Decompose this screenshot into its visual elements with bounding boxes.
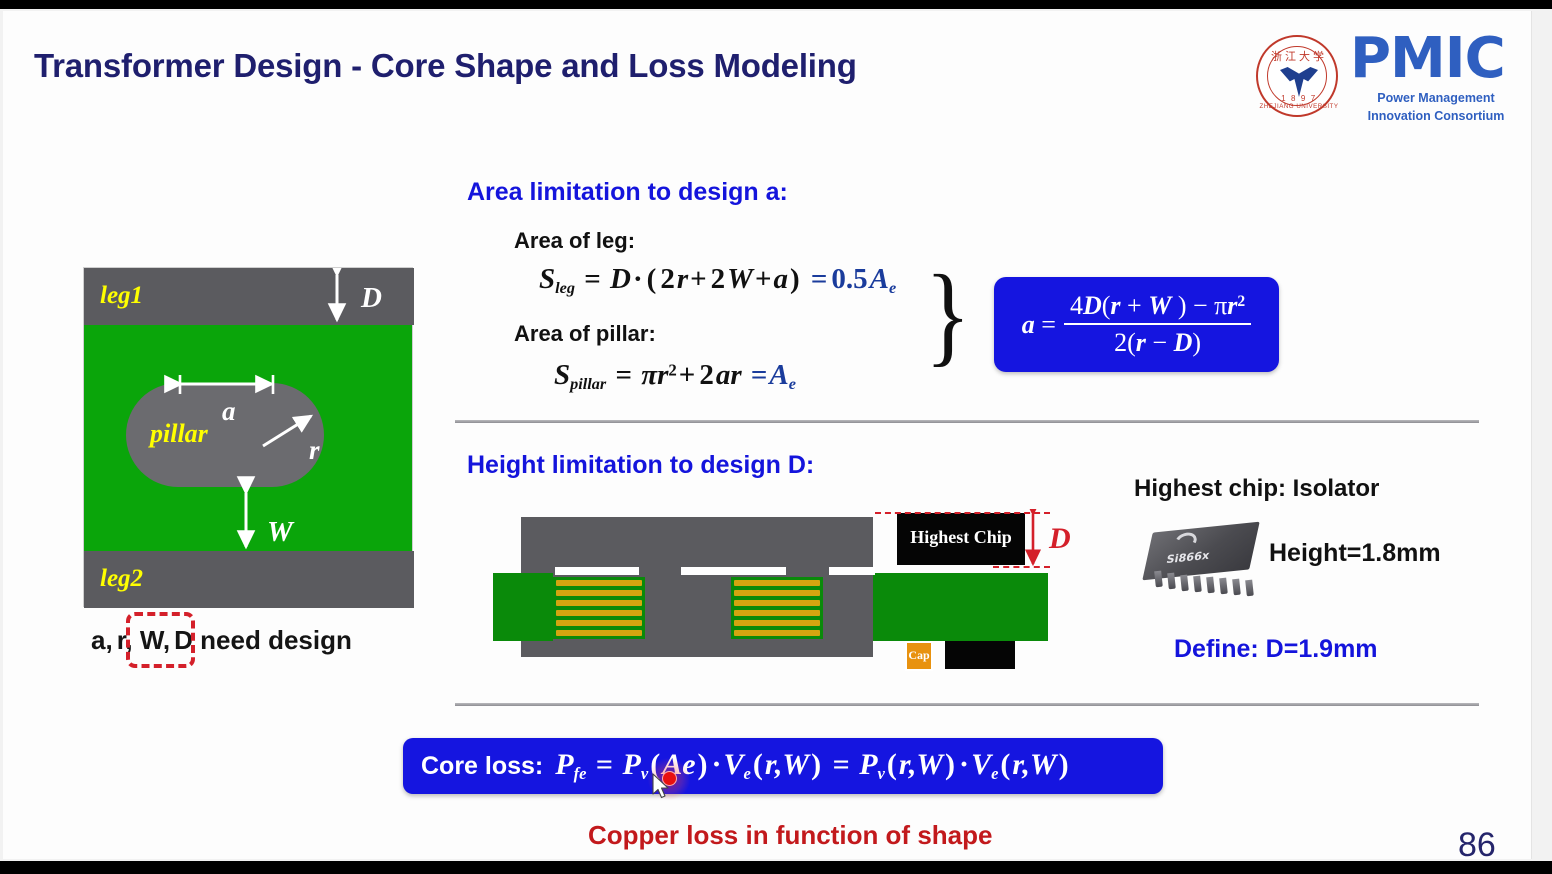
screenshot-viewport: Transformer Design - Core Shape and Loss… bbox=[0, 0, 1552, 874]
dimension-label-w: W bbox=[267, 516, 293, 549]
chip-pin bbox=[1180, 575, 1189, 592]
chip-pin bbox=[1193, 576, 1202, 593]
core-shape-diagram: leg1 leg2 pillar bbox=[83, 267, 413, 607]
solved-a-equation: a = 4D(r + W ) − πr2 2(r − D) bbox=[994, 277, 1279, 372]
copper-trace bbox=[734, 590, 820, 596]
winding-left bbox=[553, 577, 645, 639]
isolator-panel-title: Highest chip: Isolator bbox=[1134, 475, 1379, 503]
core-gap-a bbox=[555, 567, 639, 575]
highlight-dashed-box bbox=[126, 612, 195, 668]
core-loss-label: Core loss: bbox=[421, 752, 543, 781]
copper-trace bbox=[556, 630, 642, 636]
copper-trace bbox=[734, 580, 820, 586]
core-loss-equation: Pfe = Pv(Ae)·Ve(r,W) = Pv(r,W)·Ve(r,W) bbox=[555, 748, 1070, 784]
caption-prefix: a, bbox=[91, 625, 113, 655]
zhejiang-university-seal-icon: 浙江大学 1 8 9 7 ZHEJIANG UNIVERSITY bbox=[1256, 35, 1338, 117]
copper-trace bbox=[556, 620, 642, 626]
core-leg2: leg2 bbox=[84, 551, 414, 608]
copper-trace bbox=[734, 620, 820, 626]
chip-pin bbox=[1219, 578, 1228, 595]
chip-pin bbox=[1232, 579, 1241, 596]
cross-section-diagram: Highest Chip Cap D bbox=[493, 511, 1093, 663]
pmic-wordmark: PMIC bbox=[1350, 29, 1505, 89]
define-d-text: Define: D=1.9mm bbox=[1174, 635, 1378, 664]
page-title: Transformer Design - Core Shape and Loss… bbox=[34, 47, 857, 85]
fraction-denominator: 2(r − D) bbox=[1064, 325, 1251, 358]
core-gap-c bbox=[829, 567, 875, 575]
leg2-label: leg2 bbox=[100, 565, 143, 593]
chip-pin bbox=[1206, 577, 1215, 594]
copper-trace bbox=[556, 580, 642, 586]
fraction: 4D(r + W ) − πr2 2(r − D) bbox=[1064, 291, 1251, 358]
dimension-label-a: a bbox=[222, 396, 236, 427]
core-gap-b bbox=[681, 567, 786, 575]
copper-trace bbox=[556, 610, 642, 616]
isolator-height-text: Height=1.8mm bbox=[1269, 539, 1441, 568]
divider-line-1 bbox=[455, 420, 1479, 423]
bottom-component-block bbox=[945, 641, 1015, 669]
dimension-label-r: r bbox=[309, 435, 320, 466]
area-of-leg-subheading: Area of leg: bbox=[514, 228, 635, 254]
pillar-area-equation: Spillar = πr2+2ar =Ae bbox=[554, 359, 796, 394]
height-section-heading: Height limitation to design D: bbox=[467, 451, 814, 480]
core-top-plate bbox=[521, 517, 873, 567]
pcb-right bbox=[873, 573, 1048, 641]
chip-pin bbox=[1154, 571, 1163, 588]
capacitor-label: Cap bbox=[907, 648, 931, 663]
letterbox-bottom bbox=[0, 861, 1552, 874]
isolator-chip-image: Si866x bbox=[1143, 523, 1267, 601]
chip-pins bbox=[1153, 567, 1263, 599]
letterbox-top bbox=[0, 0, 1552, 9]
slide-page-number: 86 bbox=[1458, 826, 1496, 865]
d-dimension-arrow bbox=[1021, 509, 1045, 571]
copper-loss-note: Copper loss in function of shape bbox=[588, 820, 992, 851]
area-of-pillar-subheading: Area of pillar: bbox=[514, 321, 656, 347]
divider-line-2 bbox=[455, 703, 1479, 706]
area-section-heading: Area limitation to design a: bbox=[467, 178, 788, 207]
copper-trace bbox=[734, 610, 820, 616]
copper-trace bbox=[734, 630, 820, 636]
copper-trace bbox=[556, 600, 642, 606]
copper-trace bbox=[734, 600, 820, 606]
winding-right bbox=[731, 577, 823, 639]
seal-university-name: ZHEJIANG UNIVERSITY bbox=[1258, 103, 1340, 110]
leg1-label: leg1 bbox=[100, 282, 143, 310]
dimension-label-d: D bbox=[361, 282, 382, 315]
pmic-subtitle-line1: Power Management bbox=[1350, 91, 1522, 105]
copper-trace bbox=[556, 590, 642, 596]
seal-year: 1 8 9 7 bbox=[1258, 94, 1340, 103]
pmic-subtitle-line2: Innovation Consortium bbox=[1350, 109, 1522, 123]
chip-pin bbox=[1167, 573, 1176, 590]
core-loss-banner: Core loss: Pfe = Pv(Ae)·Ve(r,W) = Pv(r,W… bbox=[403, 738, 1163, 794]
capacitor-block: Cap bbox=[905, 641, 933, 671]
caption-suffix: D need design bbox=[174, 625, 352, 655]
pillar-label: pillar bbox=[150, 419, 208, 449]
pcb-left bbox=[493, 573, 553, 641]
d-dimension-label: D bbox=[1049, 522, 1071, 556]
seal-chinese-text: 浙江大学 bbox=[1258, 48, 1340, 64]
highest-chip-label: Highest Chip bbox=[897, 527, 1025, 548]
fraction-numerator: 4D(r + W ) − πr2 bbox=[1064, 291, 1251, 325]
chip-pin bbox=[1245, 580, 1254, 597]
result-formula-box: a = 4D(r + W ) − πr2 2(r − D) bbox=[994, 277, 1279, 372]
logo-block: 浙江大学 1 8 9 7 ZHEJIANG UNIVERSITY PMIC Po… bbox=[1256, 27, 1522, 129]
highest-chip-block: Highest Chip bbox=[897, 513, 1025, 565]
leg-area-equation: Sleg = D·(2r+2W+a) =0.5Ae bbox=[539, 263, 896, 298]
presentation-slide: Transformer Design - Core Shape and Loss… bbox=[3, 11, 1532, 859]
grouping-brace: } bbox=[925, 259, 971, 371]
